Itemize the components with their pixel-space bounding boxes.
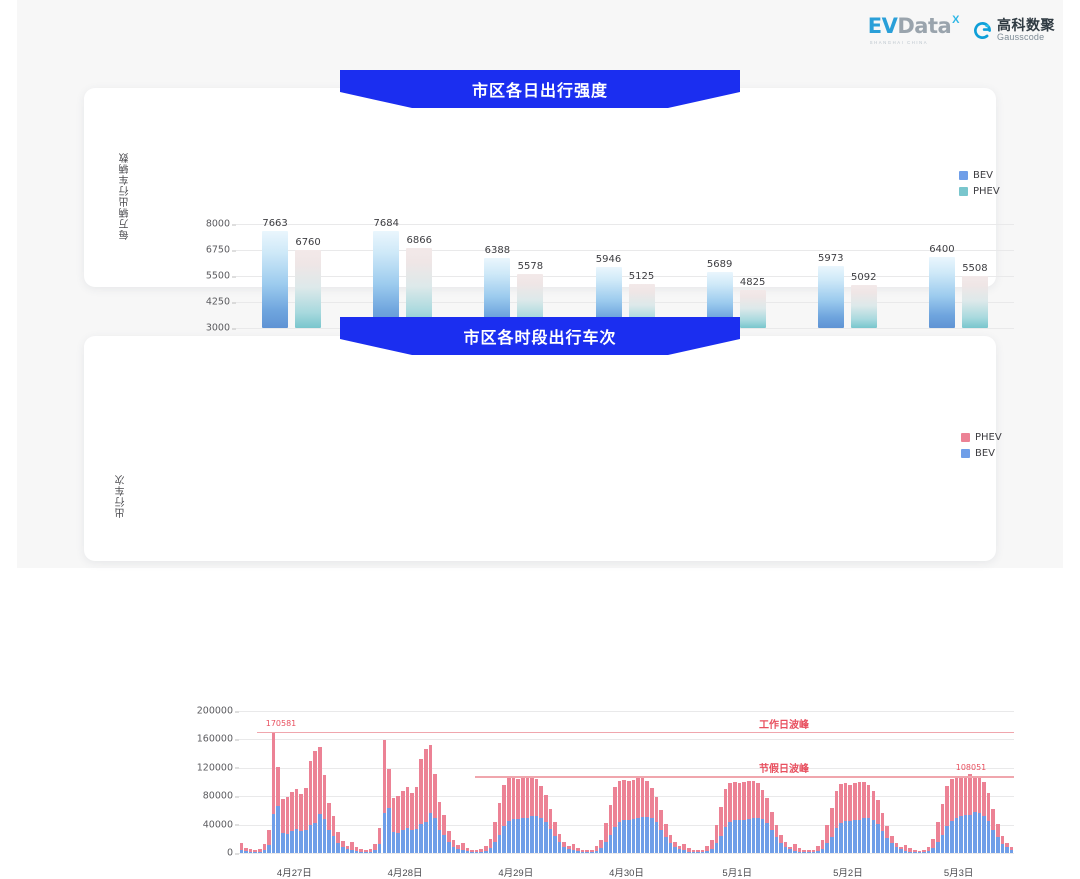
chart2-stacked-bar[interactable]	[323, 775, 327, 853]
chart2-stacked-bar[interactable]	[950, 779, 954, 853]
chart2-stacked-bar[interactable]	[406, 787, 410, 853]
chart2-stacked-bar[interactable]	[618, 781, 622, 853]
chart2-stacked-bar[interactable]	[470, 850, 474, 853]
chart2-stacked-bar[interactable]	[991, 809, 995, 853]
chart2-stacked-bar[interactable]	[659, 810, 663, 853]
chart2-stacked-bar[interactable]	[240, 843, 244, 853]
chart1-bar-bev[interactable]	[818, 266, 844, 328]
chart2-seg-phev	[549, 809, 553, 829]
chart2-stacked-bar[interactable]	[955, 777, 959, 853]
chart2-stacked-bar[interactable]	[853, 783, 857, 853]
chart2-stacked-bar[interactable]	[544, 795, 548, 853]
chart2-stacked-bar[interactable]	[835, 791, 839, 853]
chart2-seg-bev	[595, 851, 599, 853]
chart2-stacked-bar[interactable]	[922, 850, 926, 853]
chart2-stacked-bar[interactable]	[650, 788, 654, 853]
chart2-seg-bev	[765, 823, 769, 853]
chart2-stacked-bar[interactable]	[876, 800, 880, 853]
chart2-stacked-bar[interactable]	[516, 779, 520, 853]
chart2-stacked-bar[interactable]	[346, 846, 350, 853]
chart2-stacked-bar[interactable]	[456, 845, 460, 853]
chart2-seg-phev	[558, 834, 562, 843]
chart2-stacked-bar[interactable]	[959, 777, 963, 853]
chart2-seg-phev	[433, 774, 437, 819]
chart2-seg-phev	[655, 797, 659, 823]
chart2-stacked-bar[interactable]	[964, 776, 968, 853]
chart2-stacked-bar[interactable]	[682, 844, 686, 853]
chart2-seg-bev	[549, 829, 553, 853]
chart2-stacked-bar[interactable]	[466, 848, 470, 853]
chart2-stacked-bar[interactable]	[272, 732, 276, 853]
evdata-superscript-x: X	[952, 15, 959, 26]
chart1-legend-item[interactable]: PHEV	[959, 186, 1000, 197]
evdata-wordmark: EVDataX	[868, 16, 959, 37]
chart2-seg-phev	[498, 803, 502, 834]
chart2-stacked-bar[interactable]	[770, 812, 774, 853]
chart2-stacked-bar[interactable]	[419, 759, 423, 853]
chart1-bar-phev[interactable]	[740, 290, 766, 328]
chart2-stacked-bar[interactable]	[881, 813, 885, 853]
chart2-seg-phev	[516, 779, 520, 819]
chart2-seg-phev	[987, 793, 991, 821]
chart2-stacked-bar[interactable]	[249, 849, 253, 853]
chart2-seg-bev	[899, 849, 903, 853]
chart2-seg-bev	[442, 835, 446, 853]
chart2-stacked-bar[interactable]	[1005, 843, 1009, 853]
chart2-seg-phev	[350, 842, 354, 850]
chart2-stacked-bar[interactable]	[373, 844, 377, 853]
chart2-seg-bev	[240, 850, 244, 853]
chart2-stacked-bar[interactable]	[715, 825, 719, 853]
chart2-stacked-bar[interactable]	[253, 850, 257, 853]
chart2-y-axis-title: 出行车次	[114, 376, 129, 518]
chart2-seg-phev	[544, 795, 548, 822]
chart2-seg-bev	[881, 831, 885, 853]
chart2-stacked-bar[interactable]	[484, 846, 488, 853]
chart2-seg-bev	[872, 820, 876, 853]
chart2-stacked-bar[interactable]	[613, 787, 617, 853]
chart2-seg-phev	[585, 850, 589, 852]
chart2-x-label: 4月28日	[388, 865, 423, 879]
chart2-seg-phev	[507, 778, 511, 821]
chart2-stacked-bar[interactable]	[973, 776, 977, 853]
chart2-stacked-bar[interactable]	[802, 850, 806, 853]
chart2-seg-bev	[567, 849, 571, 853]
chart2-seg-phev	[512, 778, 516, 819]
chart2-seg-phev	[973, 776, 977, 812]
chart2-seg-phev	[761, 790, 765, 819]
chart2-stacked-bar[interactable]	[489, 839, 493, 853]
chart2-stacked-bar[interactable]	[521, 778, 525, 853]
chart2-stacked-bar[interactable]	[442, 815, 446, 853]
chart2-seg-phev	[299, 794, 303, 831]
chart2-seg-phev	[705, 846, 709, 851]
chart2-plot-area: 040000800001200001600002000004月27日4月28日4…	[239, 711, 1014, 853]
chart2-stacked-bar[interactable]	[493, 822, 497, 853]
chart2-stacked-bar[interactable]	[535, 779, 539, 853]
chart2-stacked-bar[interactable]	[788, 847, 792, 853]
chart2-seg-bev	[272, 814, 276, 853]
chart-card-hourly-trips: 出行车次 040000800001200001600002000004月27日4…	[84, 336, 996, 561]
chart2-stacked-bar[interactable]	[526, 776, 530, 853]
chart2-stacked-bar[interactable]	[918, 851, 922, 853]
chart2-stacked-bar[interactable]	[558, 834, 562, 853]
chart2-stacked-bar[interactable]	[290, 792, 294, 853]
chart2-seg-phev	[627, 781, 631, 819]
chart2-stacked-bar[interactable]	[825, 825, 829, 853]
chart2-seg-phev	[406, 787, 410, 827]
chart2-seg-bev	[982, 816, 986, 853]
chart2-seg-bev	[433, 818, 437, 853]
chart2-seg-phev	[779, 835, 783, 843]
chart1-bar-bev[interactable]	[373, 231, 399, 328]
chart2-legend-item[interactable]: BEV	[961, 448, 1002, 459]
chart2-seg-bev	[263, 850, 267, 853]
chart2-stacked-bar[interactable]	[364, 850, 368, 853]
chart2-seg-phev	[253, 850, 257, 852]
chart2-seg-bev	[530, 816, 534, 853]
chart2-annotation-label: 工作日波峰	[759, 716, 809, 731]
chart2-seg-phev	[466, 848, 470, 852]
chart2-seg-phev	[581, 850, 585, 852]
chart2-seg-bev	[364, 852, 368, 853]
chart2-stacked-bar[interactable]	[742, 782, 746, 853]
chart2-stacked-bar[interactable]	[636, 778, 640, 853]
chart2-stacked-bar[interactable]	[576, 848, 580, 853]
chart2-stacked-bar[interactable]	[696, 850, 700, 853]
chart2-stacked-bar[interactable]	[1001, 836, 1005, 853]
chart2-stacked-bar[interactable]	[1010, 847, 1014, 853]
evdata-word-b: Data	[897, 16, 951, 37]
chart2-seg-phev	[816, 846, 820, 851]
chart2-stacked-bar[interactable]	[844, 783, 848, 853]
chart2-stacked-bar[interactable]	[383, 740, 387, 853]
chart2-stacked-bar[interactable]	[553, 822, 557, 853]
chart2-stacked-bar[interactable]	[784, 842, 788, 853]
chart2-stacked-bar[interactable]	[812, 850, 816, 853]
chart2-stacked-bar[interactable]	[530, 776, 534, 853]
chart2-seg-phev	[724, 789, 728, 827]
chart2-stacked-bar[interactable]	[396, 796, 400, 853]
chart2-seg-phev	[323, 775, 327, 819]
chart2-seg-bev	[761, 819, 765, 853]
chart2-stacked-bar[interactable]	[599, 840, 603, 853]
chart2-seg-phev	[899, 847, 903, 850]
chart2-seg-phev	[576, 848, 580, 852]
chart2-stacked-bar[interactable]	[710, 840, 714, 853]
chart2-seg-bev	[318, 814, 322, 853]
chart2-stacked-bar[interactable]	[244, 848, 248, 853]
chart2-stacked-bar[interactable]	[669, 835, 673, 853]
chart1-bar-phev[interactable]	[962, 276, 988, 328]
chart2-stacked-bar[interactable]	[913, 850, 917, 853]
chart2-stacked-bar[interactable]	[267, 830, 271, 853]
chart2-seg-phev	[756, 783, 760, 817]
chart2-stacked-bar[interactable]	[793, 844, 797, 853]
chart2-stacked-bar[interactable]	[978, 776, 982, 853]
chart2-seg-phev	[645, 781, 649, 817]
chart2-stacked-bar[interactable]	[401, 791, 405, 853]
chart2-stacked-bar[interactable]	[336, 832, 340, 853]
chart2-stacked-bar[interactable]	[369, 849, 373, 853]
chart2-stacked-bar[interactable]	[263, 844, 267, 853]
chart2-stacked-bar[interactable]	[931, 839, 935, 853]
chart2-stacked-bar[interactable]	[507, 778, 511, 853]
chart2-stacked-bar[interactable]	[895, 843, 899, 853]
chart2-stacked-bar[interactable]	[719, 807, 723, 853]
chart2-seg-phev	[442, 815, 446, 836]
chart2-stacked-bar[interactable]	[655, 797, 659, 853]
chart1-bar-phev[interactable]	[851, 285, 877, 329]
chart-card-daily-intensity: 每万辆出行车辆数 30004250550067508000766367604月2…	[84, 88, 996, 287]
chart2-stacked-bar[interactable]	[461, 843, 465, 853]
chart2-stacked-bar[interactable]	[327, 803, 331, 853]
chart2-seg-phev	[945, 786, 949, 826]
chart2-stacked-bar[interactable]	[424, 749, 428, 853]
chart2-stacked-bar[interactable]	[839, 784, 843, 853]
chart2-stacked-bar[interactable]	[899, 847, 903, 853]
chart2-seg-phev	[502, 785, 506, 826]
chart2-stacked-bar[interactable]	[632, 780, 636, 853]
chart2-stacked-bar[interactable]	[701, 850, 705, 853]
chart2-seg-bev	[673, 847, 677, 853]
chart2-seg-phev	[765, 798, 769, 823]
chart2-seg-phev	[313, 751, 317, 823]
chart2-stacked-bar[interactable]	[502, 785, 506, 853]
chart1-bar-bev[interactable]	[929, 257, 955, 328]
chart2-seg-phev	[848, 785, 852, 821]
chart2-stacked-bar[interactable]	[415, 787, 419, 853]
chart2-stacked-bar[interactable]	[295, 789, 299, 853]
chart2-stacked-bar[interactable]	[332, 816, 336, 853]
chart2-gridline	[239, 853, 1014, 854]
chart2-seg-phev	[378, 828, 382, 844]
chart2-seg-phev	[539, 786, 543, 818]
chart2-seg-phev	[821, 840, 825, 848]
chart2-stacked-bar[interactable]	[392, 798, 396, 853]
chart2-seg-phev	[784, 842, 788, 847]
chart2-seg-phev	[738, 783, 742, 820]
chart2-seg-bev	[535, 816, 539, 853]
chart2-seg-phev	[747, 781, 751, 819]
chart2-seg-bev	[636, 818, 640, 853]
chart2-seg-bev	[355, 851, 359, 853]
chart2-stacked-bar[interactable]	[585, 850, 589, 853]
chart2-seg-bev	[461, 850, 465, 853]
chart2-seg-phev	[931, 839, 935, 848]
chart2-seg-phev	[604, 823, 608, 842]
chart2-stacked-bar[interactable]	[475, 850, 479, 853]
chart2-seg-phev	[336, 832, 340, 843]
chart2-stacked-bar[interactable]	[258, 849, 262, 853]
chart1-data-label: 6760	[295, 237, 320, 248]
chart2-seg-bev	[622, 820, 626, 853]
chart2-stacked-bar[interactable]	[945, 786, 949, 853]
chart2-x-label: 4月29日	[498, 865, 533, 879]
chart2-stacked-bar[interactable]	[622, 780, 626, 853]
chart2-stacked-bar[interactable]	[641, 778, 645, 853]
chart2-stacked-bar[interactable]	[539, 786, 543, 853]
chart2-stacked-bar[interactable]	[512, 778, 516, 853]
chart1-bar-phev[interactable]	[406, 248, 432, 328]
chart2-stacked-bar[interactable]	[761, 790, 765, 853]
chart2-stacked-bar[interactable]	[286, 797, 290, 853]
chart2-stacked-bar[interactable]	[350, 842, 354, 853]
chart2-stacked-bar[interactable]	[816, 846, 820, 853]
chart2-stacked-bar[interactable]	[779, 835, 783, 853]
chart2-seg-bev	[336, 843, 340, 853]
chart2-stacked-bar[interactable]	[447, 831, 451, 853]
chart2-seg-phev	[742, 782, 746, 820]
chart2-seg-bev	[346, 849, 350, 853]
chart2-stacked-bar[interactable]	[867, 785, 871, 853]
chart2-seg-bev	[770, 830, 774, 853]
chart2-stacked-bar[interactable]	[387, 769, 391, 853]
chart2-seg-bev	[964, 815, 968, 853]
chart2-stacked-bar[interactable]	[687, 848, 691, 853]
chart2-stacked-bar[interactable]	[355, 847, 359, 853]
chart2-seg-phev	[982, 782, 986, 816]
chart2-seg-bev	[701, 852, 705, 853]
chart2-seg-bev	[609, 835, 613, 853]
chart1-data-label: 6388	[485, 245, 510, 256]
chart2-stacked-bar[interactable]	[433, 773, 437, 853]
chart2-seg-bev	[295, 829, 299, 853]
chart2-stacked-bar[interactable]	[359, 849, 363, 853]
chart2-seg-bev	[687, 852, 691, 853]
chart2-stacked-bar[interactable]	[775, 825, 779, 853]
chart2-stacked-bar[interactable]	[872, 791, 876, 853]
chart2-stacked-bar[interactable]	[595, 846, 599, 853]
chart1-bar-group: 63885578	[484, 224, 543, 328]
chart2-stacked-bar[interactable]	[581, 850, 585, 853]
chart2-stacked-bar[interactable]	[276, 767, 280, 853]
chart2-seg-bev	[641, 817, 645, 853]
chart2-stacked-bar[interactable]	[664, 824, 668, 853]
chart2-stacked-bar[interactable]	[752, 781, 756, 853]
chart2-stacked-bar[interactable]	[996, 824, 1000, 853]
chart2-stacked-bar[interactable]	[798, 848, 802, 853]
chart2-seg-phev	[719, 807, 723, 836]
chart2-seg-phev	[715, 825, 719, 843]
chart2-stacked-bar[interactable]	[724, 789, 728, 853]
chart2-stacked-bar[interactable]	[738, 783, 742, 853]
chart2-legend-item[interactable]: PHEV	[961, 432, 1002, 443]
chart2-legend: PHEVBEV	[961, 432, 1002, 459]
chart1-bar-phev[interactable]	[295, 250, 321, 328]
chart2-stacked-bar[interactable]	[549, 809, 553, 853]
chart2-stacked-bar[interactable]	[728, 783, 732, 853]
chart2-stacked-bar[interactable]	[908, 848, 912, 853]
chart2-stacked-bar[interactable]	[678, 846, 682, 853]
chart2-seg-bev	[927, 851, 931, 853]
chart2-seg-bev	[544, 822, 548, 853]
chart2-stacked-bar[interactable]	[309, 761, 313, 853]
chart2-seg-bev	[895, 847, 899, 853]
chart2-stacked-bar[interactable]	[968, 774, 972, 853]
chart2-stacked-bar[interactable]	[627, 781, 631, 853]
chart2-seg-bev	[249, 852, 253, 853]
chart2-stacked-bar[interactable]	[885, 826, 889, 853]
chart2-stacked-bar[interactable]	[572, 844, 576, 853]
legend-swatch	[961, 449, 970, 458]
chart2-stacked-bar[interactable]	[341, 841, 345, 853]
chart2-stacked-bar[interactable]	[479, 849, 483, 853]
chart2-seg-bev	[835, 828, 839, 853]
chart2-stacked-bar[interactable]	[438, 802, 442, 853]
chart2-stacked-bar[interactable]	[590, 850, 594, 853]
chart2-seg-bev	[401, 830, 405, 853]
chart2-stacked-bar[interactable]	[765, 798, 769, 853]
chart2-stacked-bar[interactable]	[299, 794, 303, 853]
chart2-seg-phev	[618, 781, 622, 822]
chart2-stacked-bar[interactable]	[733, 782, 737, 853]
chart2-stacked-bar[interactable]	[890, 836, 894, 853]
chart2-stacked-bar[interactable]	[410, 793, 414, 853]
evdata-logo: EVDataX SHANGHAI CHINA	[868, 16, 959, 45]
chart2-stacked-bar[interactable]	[821, 840, 825, 853]
chart2-stacked-bar[interactable]	[692, 850, 696, 853]
chart2-stacked-bar[interactable]	[645, 781, 649, 853]
chart2-stacked-bar[interactable]	[673, 842, 677, 853]
chart2-stacked-bar[interactable]	[604, 823, 608, 853]
chart2-seg-phev	[401, 791, 405, 831]
chart2-stacked-bar[interactable]	[936, 822, 940, 853]
chart1-data-label: 5508	[962, 263, 987, 274]
chart2-stacked-bar[interactable]	[498, 803, 502, 853]
chart2-stacked-bar[interactable]	[858, 782, 862, 853]
chart2-stacked-bar[interactable]	[562, 842, 566, 853]
chart2-stacked-bar[interactable]	[378, 828, 382, 853]
chart2-seg-bev	[696, 852, 700, 853]
chart2-stacked-bar[interactable]	[927, 847, 931, 853]
chart2-stacked-bar[interactable]	[747, 781, 751, 853]
chart2-stacked-bar[interactable]	[982, 782, 986, 853]
chart2-stacked-bar[interactable]	[807, 850, 811, 853]
chart1-legend-item[interactable]: BEV	[959, 170, 1000, 181]
chart2-stacked-bar[interactable]	[429, 745, 433, 853]
chart2-seg-bev	[419, 824, 423, 853]
chart2-seg-bev	[253, 852, 257, 853]
chart2-seg-bev	[807, 852, 811, 853]
chart2-stacked-bar[interactable]	[705, 846, 709, 853]
chart2-stacked-bar[interactable]	[281, 799, 285, 853]
chart1-bar-bev[interactable]	[262, 231, 288, 328]
chart2-seg-phev	[249, 849, 253, 851]
chart2-seg-bev	[779, 843, 783, 853]
chart2-seg-bev	[950, 821, 954, 853]
chart2-stacked-bar[interactable]	[848, 785, 852, 853]
chart2-stacked-bar[interactable]	[452, 840, 456, 853]
chart2-stacked-bar[interactable]	[313, 751, 317, 853]
chart2-seg-bev	[581, 852, 585, 853]
chart2-stacked-bar[interactable]	[904, 845, 908, 853]
chart2-stacked-bar[interactable]	[304, 788, 308, 853]
chart2-seg-bev	[922, 852, 926, 853]
chart2-stacked-bar[interactable]	[987, 793, 991, 853]
chart2-stacked-bar[interactable]	[756, 783, 760, 853]
chart2-stacked-bar[interactable]	[862, 782, 866, 853]
chart2-seg-phev	[964, 776, 968, 816]
chart2-stacked-bar[interactable]	[318, 747, 322, 853]
chart2-stacked-bar[interactable]	[830, 808, 834, 853]
chart2-seg-bev	[539, 818, 543, 854]
chart2-seg-phev	[701, 850, 705, 852]
chart2-stacked-bar[interactable]	[941, 804, 945, 853]
chart2-stacked-bar[interactable]	[609, 805, 613, 853]
chart2-stacked-bar[interactable]	[567, 846, 571, 853]
chart2-seg-phev	[318, 747, 322, 814]
